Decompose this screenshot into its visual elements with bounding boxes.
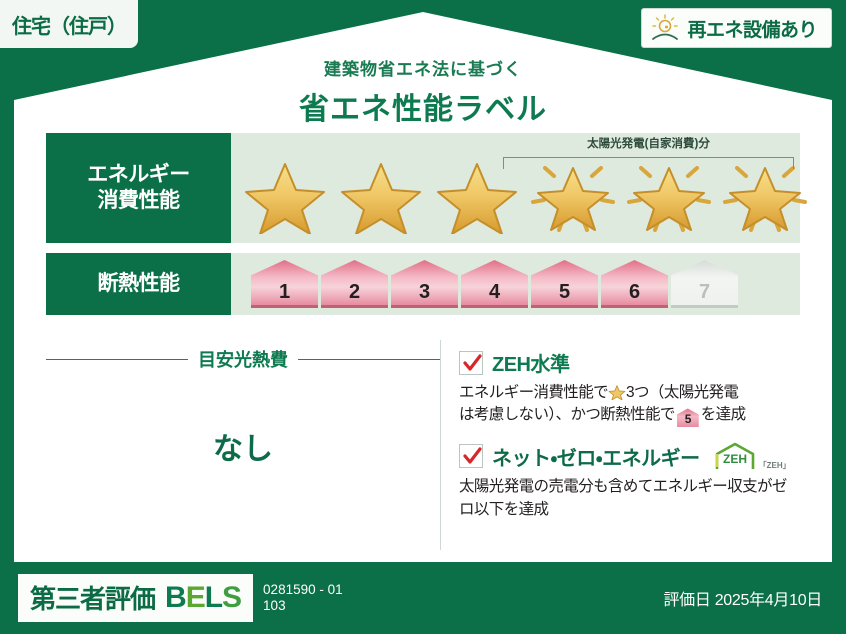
zeh-standard-row: ZEH水準 (459, 348, 800, 377)
bels-registration-number: 0281590 - 01 103 (263, 582, 343, 613)
grade-marker: 3 (391, 260, 458, 308)
net-zero-energy-description: 太陽光発電の売電分も含めてエネルギー収支がゼロ以下を達成 (459, 476, 800, 521)
zeh-standard-title: ZEH水準 (492, 348, 570, 377)
net-zero-energy-row: ネット・ゼロ・エネルギー ZEH 「ZEH」 (459, 441, 800, 471)
sun-solar-icon (650, 14, 680, 42)
evaluation-date: 評価日 2025年4月10日 (663, 586, 822, 610)
zeh-panel: ZEH水準 エネルギー消費性能で3つ（太陽光発電は考慮しない）、かつ断熱性能で5… (441, 340, 800, 550)
insulation-performance-row: 断熱性能 1 2 3 4 5 6 7 (46, 253, 800, 315)
category-badge-label: 住宅（住戸） (12, 10, 126, 39)
zeh-standard-description: エネルギー消費性能で3つ（太陽光発電は考慮しない）、かつ断熱性能で5を達成 (459, 382, 800, 427)
grade-marker: 5 (531, 260, 598, 308)
checkbox-checked (459, 444, 483, 468)
insulation-grade-area: 1 2 3 4 5 6 7 (231, 253, 800, 315)
solar-bracket-label: 太陽光発電(自家消費)分 (581, 135, 716, 151)
page-title: 省エネ性能ラベル (0, 84, 846, 128)
performance-rows: エネルギー 消費性能 (46, 133, 800, 325)
divider-left (46, 359, 188, 360)
label-title-block: 建築物省エネ法に基づく 省エネ性能ラベル (0, 55, 846, 128)
energy-star-area: 太陽光発電(自家消費)分 (231, 133, 800, 243)
star-filled (241, 156, 329, 234)
renewable-equipment-badge: 再エネ設備あり (641, 8, 832, 48)
bracket-line (503, 157, 794, 169)
bels-certification-block: 第三者評価 BELS 0281590 - 01 103 (18, 574, 343, 622)
energy-performance-label: エネルギー 消費性能 (46, 133, 231, 243)
bels-wordmark: BELS (165, 581, 241, 615)
category-badge: 住宅（住戸） (0, 0, 140, 50)
utility-cost-label: 目安光熱費 (198, 346, 288, 372)
third-party-eval-label: 第三者評価 (30, 579, 155, 616)
zeh-house-logo-icon: ZEH 「ZEH」 (713, 441, 791, 471)
title-subtitle: 建築物省エネ法に基づく (0, 55, 846, 80)
utility-cost-value: なし (213, 372, 273, 550)
inline-star-icon (608, 384, 626, 402)
grade-marker: 1 (251, 260, 318, 308)
solar-portion-bracket: 太陽光発電(自家消費)分 (503, 139, 794, 169)
star-filled (337, 156, 425, 234)
bels-energy-label: 住宅（住戸） 再エネ設備あり 建築物省エネ法に基づく 省エネ性能ラベル (0, 0, 846, 634)
zeh-logo-caption: 「ZEH」 (759, 460, 791, 471)
utility-cost-heading: 目安光熱費 (46, 346, 440, 372)
divider-right (298, 359, 440, 360)
utility-cost-panel: 目安光熱費 なし (46, 340, 441, 550)
net-zero-energy-title: ネット・ゼロ・エネルギー (492, 442, 700, 471)
insulation-performance-label: 断熱性能 (46, 253, 231, 315)
grade-marker: 4 (461, 260, 528, 308)
checkbox-checked (459, 351, 483, 375)
svg-text:ZEH: ZEH (723, 452, 747, 466)
bels-logo: 第三者評価 BELS (18, 574, 253, 622)
grade-scale: 1 2 3 4 5 6 7 (231, 253, 800, 315)
grade-marker: 6 (601, 260, 668, 308)
footer-bar: 第三者評価 BELS 0281590 - 01 103 評価日 2025年4月1… (0, 562, 846, 634)
lower-section: 目安光熱費 なし ZEH水準 エネルギー消費性能で3つ（太陽光発電は考慮しない）… (46, 340, 800, 550)
grade-marker-inactive: 7 (671, 260, 738, 308)
energy-performance-row: エネルギー 消費性能 (46, 133, 800, 243)
inline-grade-badge: 5 (677, 408, 699, 427)
grade-marker: 2 (321, 260, 388, 308)
renewable-badge-label: 再エネ設備あり (687, 15, 817, 42)
